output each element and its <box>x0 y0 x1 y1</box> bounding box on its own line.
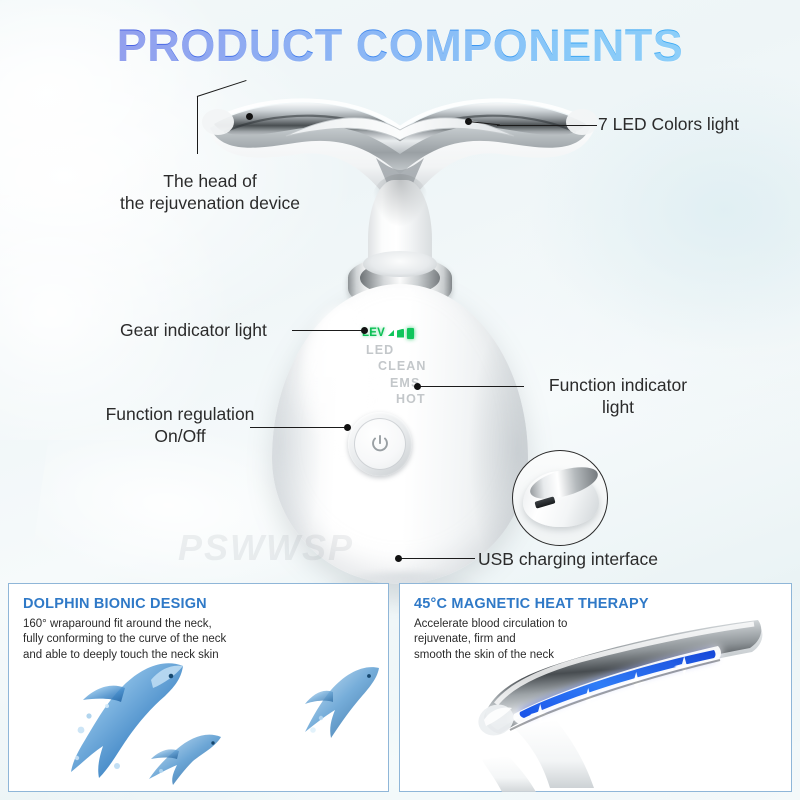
heated-head-illustration <box>470 620 790 792</box>
page-title: PRODUCT COMPONENTS <box>0 20 800 72</box>
leader-line-led-colors-2 <box>497 125 561 126</box>
leader-dot-usb <box>395 555 402 562</box>
callout-label-usb: USB charging interface <box>478 548 718 570</box>
water-dolphin-icon <box>145 729 227 789</box>
callout-label-function-indicator: Function indicator light <box>528 374 708 419</box>
leader-line-head-vertical <box>197 96 198 154</box>
power-button[interactable] <box>354 418 406 470</box>
function-label-clean: CLEAN <box>378 359 427 373</box>
gear-bar-icon <box>407 328 414 339</box>
function-label-led: LED <box>366 343 394 357</box>
card-title-dolphin: DOLPHIN BIONIC DESIGN <box>23 596 207 612</box>
watermark-text: PSWWSP <box>178 527 438 569</box>
water-dolphin-icon <box>301 662 385 748</box>
leader-dot-head <box>246 113 253 120</box>
usb-inset-closeup <box>512 450 608 546</box>
callout-label-gear-indicator: Gear indicator light <box>120 319 300 341</box>
infographic-canvas: PRODUCT COMPONENTS <box>0 0 800 800</box>
power-icon <box>369 433 391 455</box>
feature-card-dolphin-bionic-design: DOLPHIN BIONIC DESIGN 160° wraparound fi… <box>8 583 389 792</box>
device-collar-top <box>363 251 437 277</box>
leader-line-led-colors <box>561 125 597 126</box>
leader-dot-function-indicator <box>414 383 421 390</box>
gear-indicator-light: LEV <box>362 327 414 339</box>
device-stem-shadow <box>372 174 428 226</box>
callout-label-function-regulation: Function regulation On/Off <box>80 403 280 448</box>
leader-line-function-regulation <box>250 427 348 428</box>
callout-label-head: The head of the rejuvenation device <box>100 170 320 215</box>
gear-bar-icon <box>388 330 394 336</box>
leader-dot-function-regulation <box>344 424 351 431</box>
card-title-heat-therapy: 45°C MAGNETIC HEAT THERAPY <box>414 596 649 612</box>
leader-line-usb-2 <box>401 558 441 559</box>
leader-line-usb <box>441 558 475 559</box>
function-label-hot: HOT <box>396 392 426 406</box>
leader-dot-gear-indicator <box>361 327 368 334</box>
gear-bar-icon <box>397 329 404 338</box>
leader-line-function-indicator <box>420 386 524 387</box>
callout-label-led-colors: 7 LED Colors light <box>598 113 798 135</box>
leader-line-gear-indicator <box>292 330 366 331</box>
